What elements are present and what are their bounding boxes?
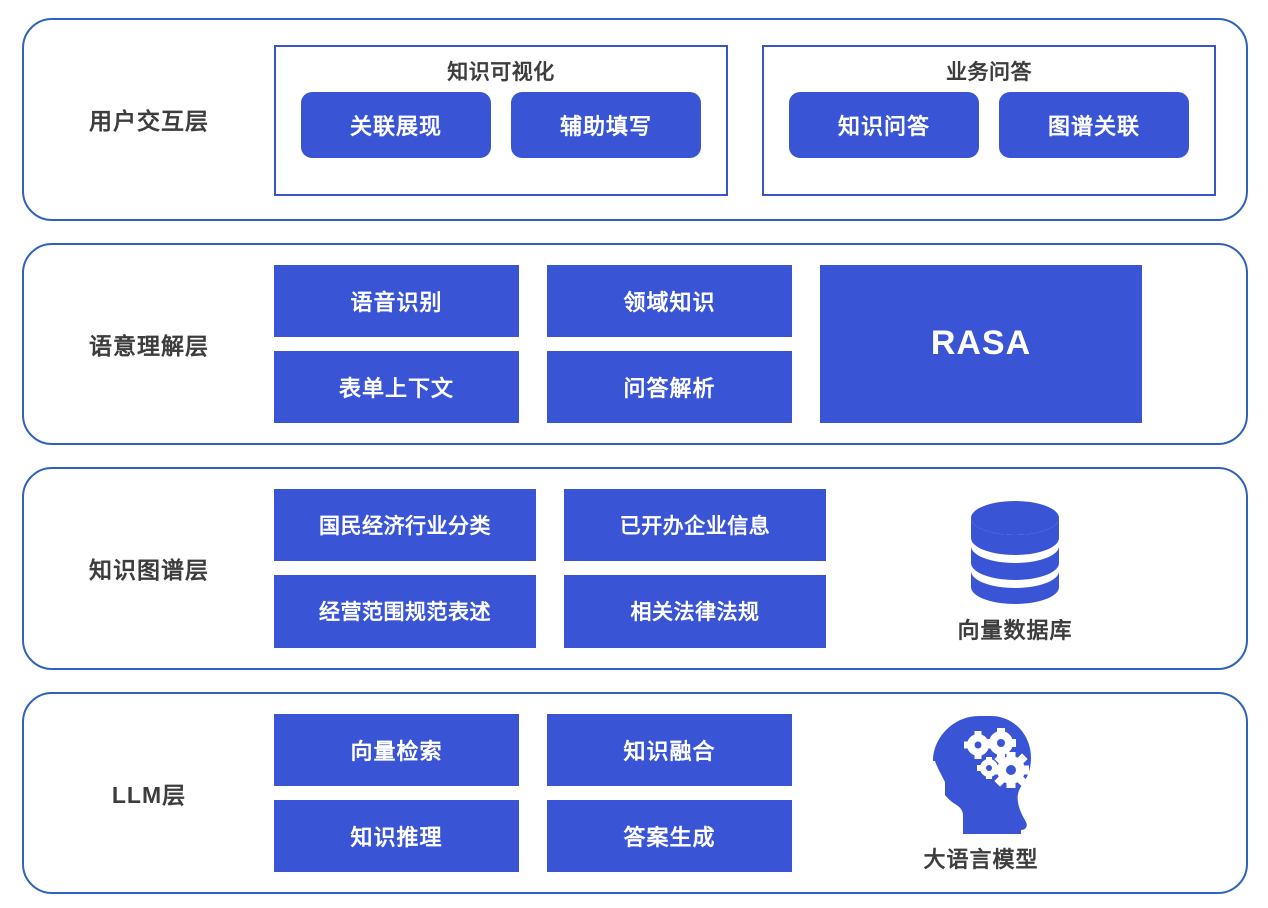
subgroup-title: 业务问答 [946, 56, 1032, 86]
subgroup-row: 知识可视化 关联展现 辅助填写 业务问答 知识问答 图谱关联 [274, 20, 1216, 219]
subgroup-title: 知识可视化 [447, 56, 555, 86]
head-gears-icon [921, 712, 1041, 838]
subgroup-business-qa: 业务问答 知识问答 图谱关联 [762, 45, 1216, 196]
pill-row: 知识问答 图谱关联 [780, 92, 1198, 158]
layer-semantic-understanding: 语意理解层 语音识别 领域知识 表单上下文 问答解析 RASA [22, 243, 1248, 446]
database-icon [956, 491, 1074, 609]
tile-grid: 语音识别 领域知识 表单上下文 问答解析 [274, 265, 792, 424]
tile-knowledge-reasoning[interactable]: 知识推理 [274, 800, 519, 872]
tile-business-scope-statement[interactable]: 经营范围规范表述 [274, 575, 536, 647]
pill-row: 关联展现 辅助填写 [292, 92, 710, 158]
layer-body-semantic-understanding: 语音识别 领域知识 表单上下文 问答解析 RASA [274, 245, 1246, 444]
layer-label-llm: LLM层 [24, 776, 274, 810]
layer-body-knowledge-graph: 国民经济行业分类 已开办企业信息 经营范围规范表述 相关法律法规 [274, 469, 1246, 668]
layer-label-semantic-understanding: 语意理解层 [24, 327, 274, 361]
figure-vector-database: 向量数据库 [854, 489, 1176, 648]
tile-related-laws[interactable]: 相关法律法规 [564, 575, 826, 647]
layer-knowledge-graph: 知识图谱层 国民经济行业分类 已开办企业信息 经营范围规范表述 相关法律法规 [22, 467, 1248, 670]
layer-label-user-interaction: 用户交互层 [24, 102, 274, 136]
layer-user-interaction: 用户交互层 知识可视化 关联展现 辅助填写 业务问答 知识问答 图谱关联 [22, 18, 1248, 221]
tile-speech-recognition[interactable]: 语音识别 [274, 265, 519, 337]
tile-industry-classification[interactable]: 国民经济行业分类 [274, 489, 536, 561]
layer-body-llm: 向量检索 知识融合 知识推理 答案生成 [274, 694, 1246, 893]
tile-form-context[interactable]: 表单上下文 [274, 351, 519, 423]
tile-knowledge-fusion[interactable]: 知识融合 [547, 714, 792, 786]
subgroup-knowledge-visualization: 知识可视化 关联展现 辅助填写 [274, 45, 728, 196]
pill-guanlian-zhanxian[interactable]: 关联展现 [301, 92, 491, 158]
tile-area: 向量检索 知识融合 知识推理 答案生成 [274, 694, 1216, 893]
layer-label-knowledge-graph: 知识图谱层 [24, 551, 274, 585]
tile-qa-parsing[interactable]: 问答解析 [547, 351, 792, 423]
pill-fuzhu-tianxie[interactable]: 辅助填写 [511, 92, 701, 158]
figure-caption: 向量数据库 [957, 613, 1072, 645]
tile-area: 语音识别 领域知识 表单上下文 问答解析 RASA [274, 245, 1216, 444]
tile-area: 国民经济行业分类 已开办企业信息 经营范围规范表述 相关法律法规 [274, 469, 1216, 668]
pill-tupu-guanlian[interactable]: 图谱关联 [999, 92, 1189, 158]
layer-llm: LLM层 向量检索 知识融合 知识推理 答案生成 [22, 692, 1248, 895]
tile-domain-knowledge[interactable]: 领域知识 [547, 265, 792, 337]
architecture-diagram: 用户交互层 知识可视化 关联展现 辅助填写 业务问答 知识问答 图谱关联 [0, 0, 1268, 908]
tile-rasa[interactable]: RASA [820, 265, 1142, 424]
tile-grid: 国民经济行业分类 已开办企业信息 经营范围规范表述 相关法律法规 [274, 489, 826, 648]
layer-body-user-interaction: 知识可视化 关联展现 辅助填写 业务问答 知识问答 图谱关联 [274, 20, 1246, 219]
tile-registered-enterprise-info[interactable]: 已开办企业信息 [564, 489, 826, 561]
figure-large-language-model: 大语言模型 [820, 714, 1142, 873]
tile-answer-generation[interactable]: 答案生成 [547, 800, 792, 872]
tile-grid: 向量检索 知识融合 知识推理 答案生成 [274, 714, 792, 873]
tile-vector-retrieval[interactable]: 向量检索 [274, 714, 519, 786]
figure-caption: 大语言模型 [923, 842, 1038, 874]
pill-zhishi-wenda[interactable]: 知识问答 [789, 92, 979, 158]
